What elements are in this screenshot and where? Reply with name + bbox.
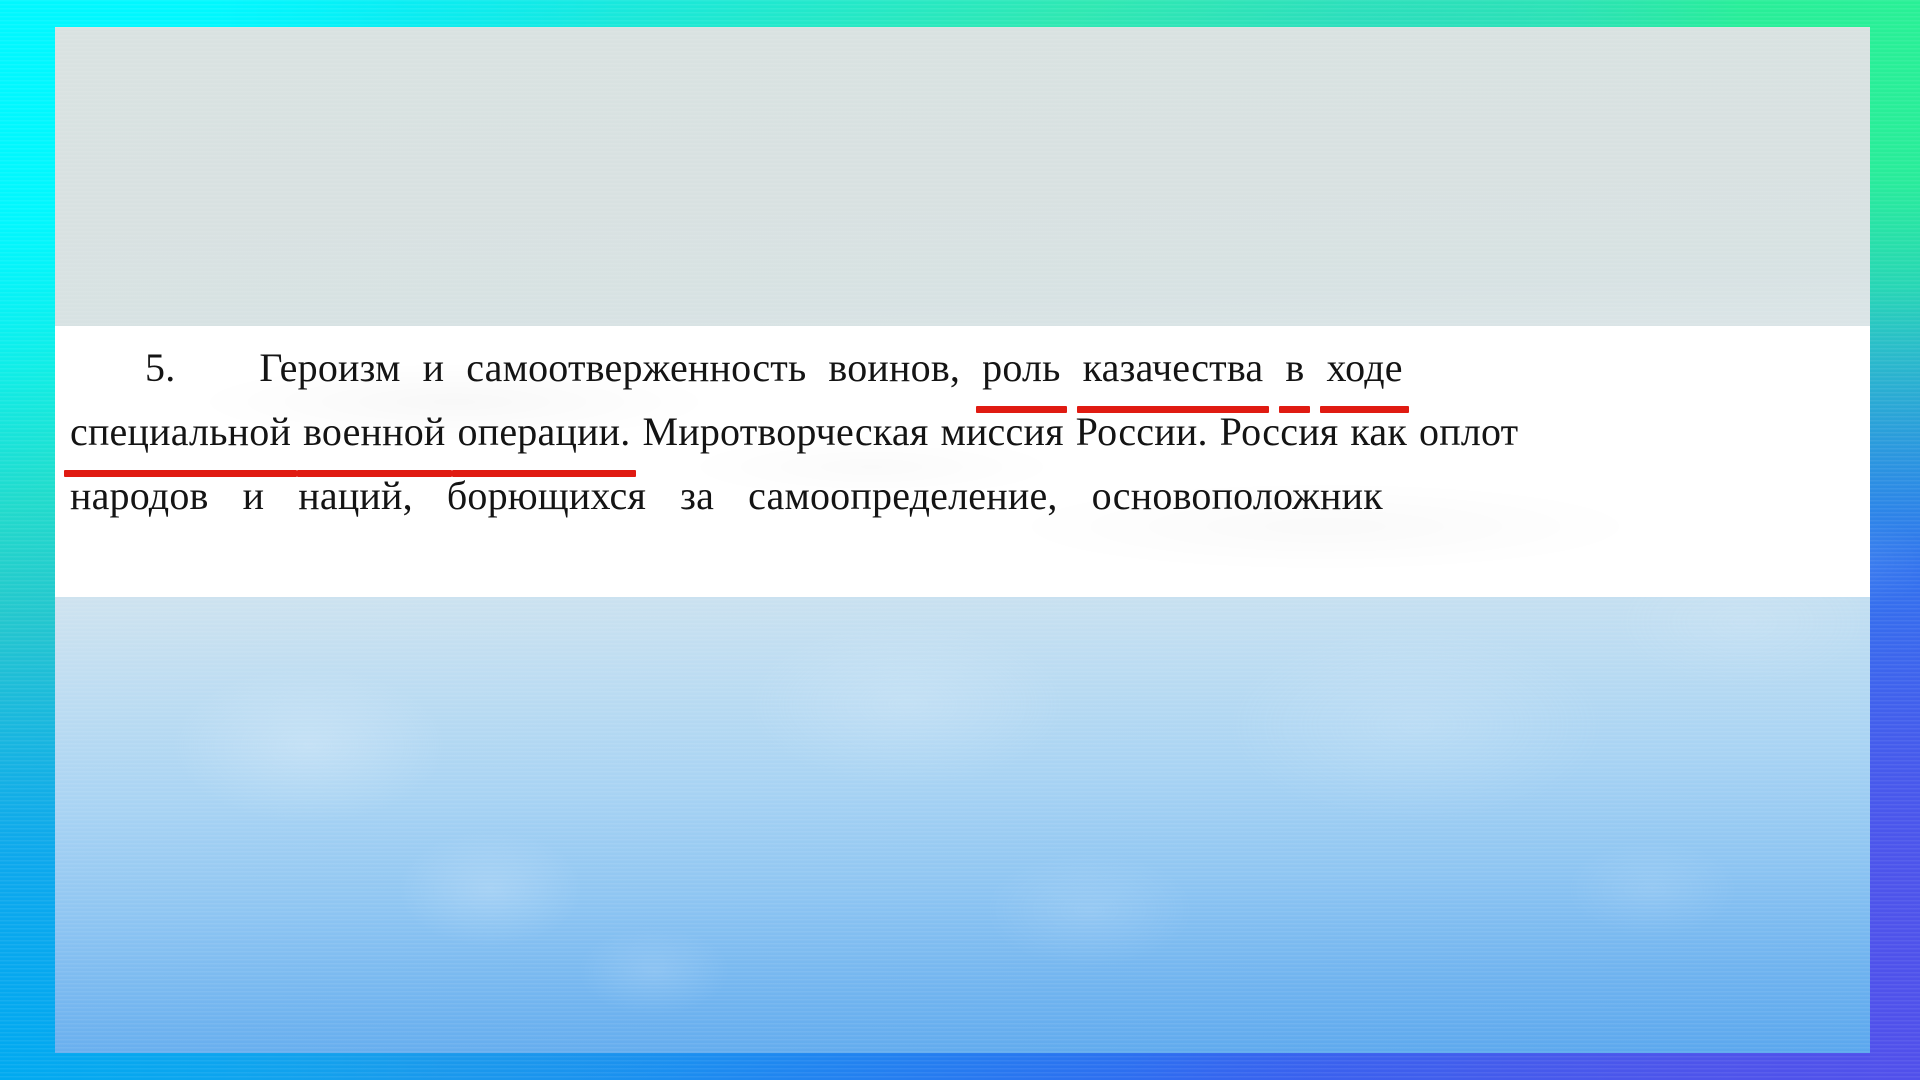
scanned-document-strip: 5. Героизм и самоотверженность воинов, р… <box>55 326 1870 597</box>
word: Миротворческая <box>642 400 928 464</box>
word: наций, <box>298 464 413 528</box>
document-line-3: народов и наций, борющихся за самоопреде… <box>70 464 1870 528</box>
word-underlined: операции. <box>458 400 631 464</box>
word-underlined: казачества <box>1083 336 1264 400</box>
slide-stage: 5. Героизм и самоотверженность воинов, р… <box>0 0 1920 1080</box>
word-underlined: специальной <box>70 400 291 464</box>
list-item-number: 5. <box>145 336 175 400</box>
word: основоположник <box>1092 464 1383 528</box>
word: Героизм <box>259 336 400 400</box>
document-text-block: 5. Героизм и самоотверженность воинов, р… <box>70 336 1870 528</box>
word: самоотверженность <box>466 336 806 400</box>
document-line-2: специальной военной операции. Миротворче… <box>70 400 1870 464</box>
word-underlined: в <box>1285 336 1304 400</box>
document-line-1: 5. Героизм и самоотверженность воинов, р… <box>70 336 1870 400</box>
word-underlined: ходе <box>1326 336 1402 400</box>
word: воинов, <box>828 336 960 400</box>
word: за <box>680 464 714 528</box>
word: оплот <box>1419 400 1518 464</box>
word: как <box>1350 400 1407 464</box>
word: Россия <box>1220 400 1339 464</box>
word: и <box>243 464 265 528</box>
word: миссия <box>940 400 1063 464</box>
word-underlined: роль <box>982 336 1060 400</box>
word: борющихся <box>447 464 646 528</box>
word: народов <box>70 464 209 528</box>
word: и <box>423 336 445 400</box>
word: самоопределение, <box>748 464 1058 528</box>
word-underlined: военной <box>303 400 445 464</box>
word: России. <box>1076 400 1208 464</box>
slide-panel: 5. Героизм и самоотверженность воинов, р… <box>55 27 1870 1053</box>
